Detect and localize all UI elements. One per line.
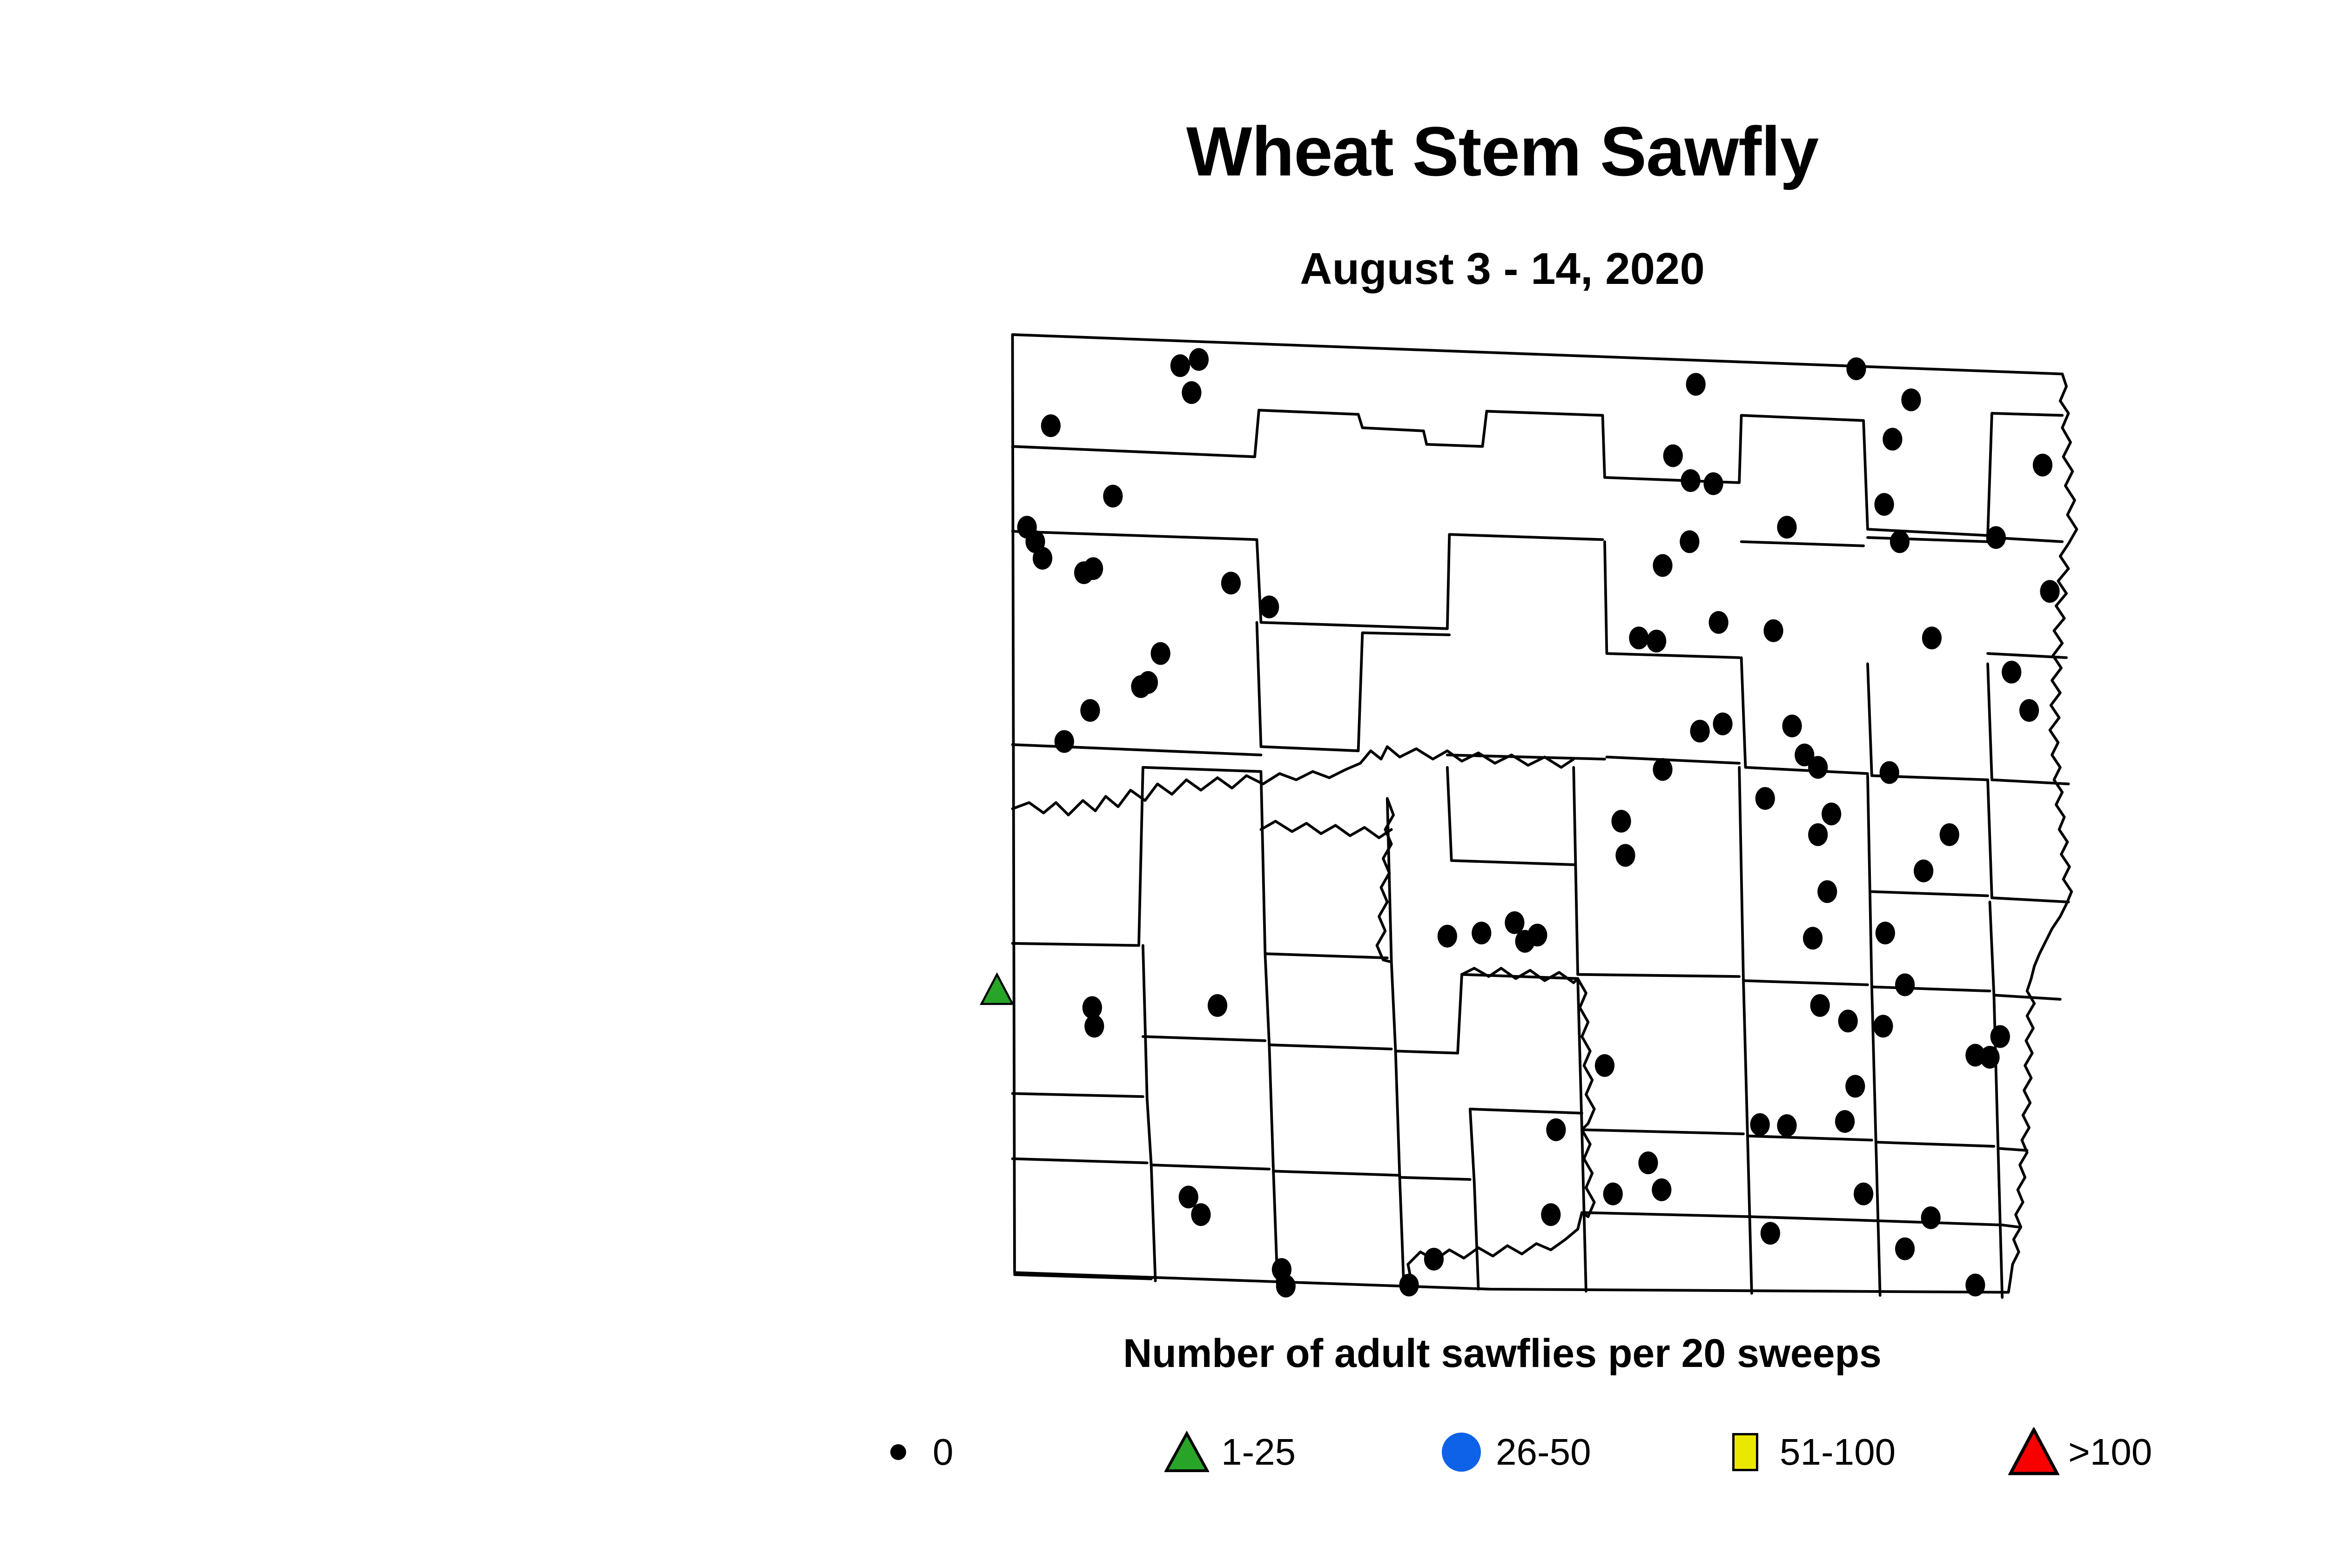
map-data-point bbox=[1890, 530, 1910, 553]
map-data-point bbox=[1103, 485, 1123, 507]
map-data-point bbox=[1663, 444, 1683, 467]
legend-label-1-25: 1-25 bbox=[1221, 1433, 1296, 1471]
map-data-point bbox=[1055, 730, 1074, 753]
map-data-point bbox=[1680, 530, 1699, 553]
north-dakota-map bbox=[693, 312, 2327, 1326]
map-data-point bbox=[2002, 661, 2021, 684]
blue-circle-icon bbox=[1433, 1420, 1489, 1485]
map-data-point bbox=[1653, 758, 1672, 781]
map-data-point bbox=[1980, 1046, 1999, 1069]
map-data-point bbox=[1817, 880, 1837, 903]
map-data-point bbox=[1686, 373, 1706, 396]
map-data-point bbox=[1681, 469, 1700, 492]
legend-item-over-100: >100 bbox=[2006, 1415, 2152, 1489]
map-data-point bbox=[1138, 671, 1158, 694]
map-data-point bbox=[1873, 1015, 1893, 1037]
map-data-point bbox=[2040, 580, 2059, 603]
map-data-point bbox=[1041, 414, 1061, 437]
map-data-point bbox=[1761, 1222, 1780, 1245]
legend-label-51-100: 51-100 bbox=[1780, 1433, 1896, 1471]
legend-item-1-25: 1-25 bbox=[1159, 1415, 1433, 1489]
state-fill bbox=[1013, 335, 2079, 1303]
map-data-point bbox=[1709, 611, 1728, 634]
map-data-point bbox=[1647, 630, 1666, 653]
legend-item-51-100: 51-100 bbox=[1717, 1415, 2006, 1489]
map-data-point bbox=[1438, 925, 1457, 948]
map-data-point bbox=[1782, 714, 1802, 737]
legend-item-zero: 0 bbox=[870, 1415, 1159, 1489]
map-data-point bbox=[1653, 554, 1672, 577]
map-data-point bbox=[1276, 1275, 1296, 1298]
map-data-point bbox=[1876, 922, 1895, 944]
map-data-point bbox=[1777, 516, 1796, 538]
map-data-point bbox=[1615, 844, 1635, 867]
page-title: Wheat Stem Sawfly bbox=[0, 116, 2327, 186]
map-data-point bbox=[1808, 756, 1828, 779]
map-data-point bbox=[1652, 1178, 1671, 1201]
map-data-point bbox=[1803, 927, 1823, 949]
map-data-point bbox=[1914, 860, 1933, 882]
map-svg bbox=[693, 312, 2327, 1326]
map-data-point bbox=[1763, 619, 1783, 642]
map-data-point bbox=[1845, 1075, 1865, 1097]
map-data-point bbox=[1191, 1203, 1211, 1226]
map-data-point bbox=[1883, 428, 1902, 451]
legend-label-over-100: >100 bbox=[2068, 1433, 2152, 1471]
yellow-square-icon bbox=[1717, 1420, 1773, 1485]
map-data-point bbox=[1189, 348, 1209, 371]
map-data-point bbox=[1991, 1025, 2010, 1048]
map-data-point bbox=[1424, 1248, 1444, 1271]
map-data-point bbox=[1750, 1113, 1770, 1136]
map-data-point bbox=[1638, 1151, 1658, 1174]
map-data-point bbox=[1080, 699, 1100, 722]
map-data-point bbox=[1895, 973, 1915, 996]
map-data-point bbox=[1846, 357, 1866, 380]
map-data-point bbox=[1835, 1110, 1855, 1133]
map-data-point bbox=[1546, 1118, 1566, 1141]
map-data-point bbox=[1083, 557, 1103, 580]
map-data-point bbox=[1690, 720, 1709, 742]
map-data-point bbox=[1472, 922, 1491, 944]
map-data-point bbox=[1505, 911, 1524, 934]
map-data-point bbox=[1755, 787, 1775, 810]
map-data-point bbox=[1810, 994, 1830, 1017]
map-data-point bbox=[1808, 823, 1828, 846]
map-data-point bbox=[1874, 493, 1894, 516]
map-data-point bbox=[1895, 1238, 1915, 1260]
map-data-point bbox=[1603, 1183, 1623, 1205]
map-data-point bbox=[1880, 761, 1899, 784]
black-dot-icon bbox=[870, 1420, 926, 1485]
map-data-point bbox=[2019, 699, 2039, 722]
map-data-point bbox=[1611, 810, 1631, 833]
map-data-point bbox=[1901, 389, 1921, 411]
map-data-point bbox=[1777, 1114, 1796, 1137]
map-data-point bbox=[1822, 802, 1841, 825]
map-data-point bbox=[1527, 924, 1547, 947]
map-data-point bbox=[1259, 596, 1279, 619]
legend-item-26-50: 26-50 bbox=[1433, 1415, 1717, 1489]
legend-label-zero: 0 bbox=[933, 1433, 954, 1471]
legend: 0 1-25 26-50 51-100 >100 bbox=[870, 1415, 2220, 1489]
legend-label-26-50: 26-50 bbox=[1496, 1433, 1591, 1471]
map-data-point bbox=[1182, 381, 1201, 404]
map-data-point bbox=[1922, 626, 1942, 649]
map-data-point bbox=[1940, 823, 1959, 846]
page-subtitle: August 3 - 14, 2020 bbox=[0, 247, 2327, 291]
map-data-point bbox=[1151, 642, 1170, 665]
map-data-point bbox=[1399, 1274, 1419, 1297]
map-data-point bbox=[1595, 1054, 1614, 1077]
map-data-point bbox=[1838, 1009, 1858, 1032]
map-data-point bbox=[1703, 472, 1723, 495]
map-data-point bbox=[1033, 547, 1052, 570]
green-triangle-icon bbox=[1159, 1420, 1215, 1485]
red-triangle-icon bbox=[2006, 1420, 2062, 1485]
map-data-point bbox=[1084, 1015, 1104, 1037]
map-data-point bbox=[1854, 1183, 1873, 1205]
map-data-point bbox=[1629, 626, 1648, 649]
map-data-point bbox=[1221, 572, 1241, 594]
map-data-point bbox=[1965, 1274, 1985, 1297]
map-data-point bbox=[1179, 1185, 1198, 1208]
map-data-point bbox=[2033, 454, 2052, 477]
map-data-point bbox=[1921, 1206, 1941, 1229]
map-data-point bbox=[1208, 994, 1227, 1017]
legend-heading: Number of adult sawflies per 20 sweeps bbox=[0, 1333, 2327, 1373]
map-data-point bbox=[1170, 354, 1190, 377]
map-data-point bbox=[1541, 1203, 1560, 1226]
map-data-point bbox=[1713, 713, 1732, 735]
map-page: Wheat Stem Sawfly August 3 - 14, 2020 bbox=[0, 0, 2327, 1568]
map-data-point bbox=[982, 975, 1013, 1004]
map-data-point bbox=[1986, 526, 2006, 549]
